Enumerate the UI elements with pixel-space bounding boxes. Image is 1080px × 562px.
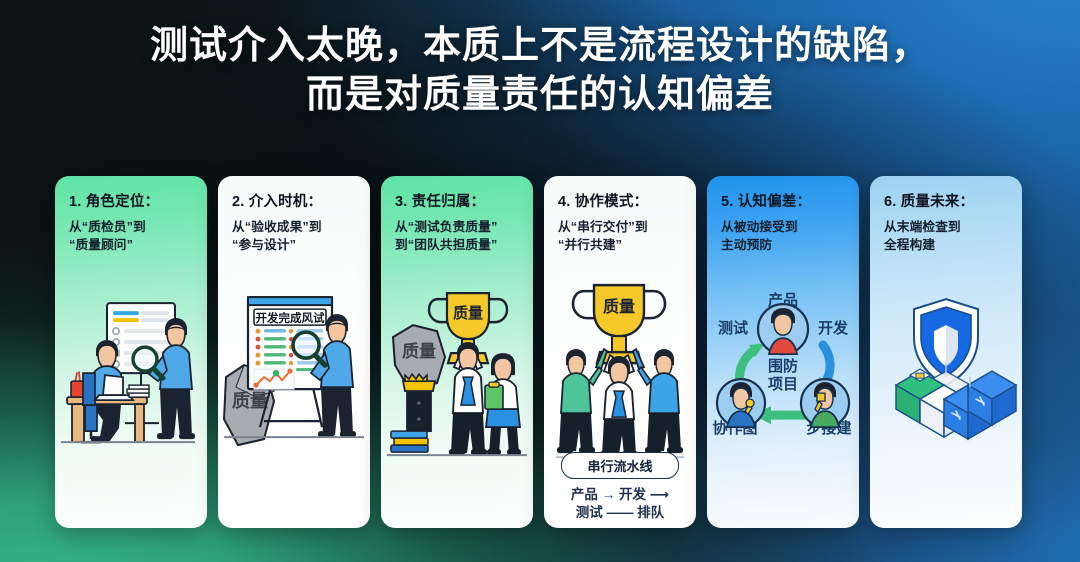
card-header: 3. 责任归属： 从“测试负责质量” 到“团队共担质量” (381, 176, 533, 254)
page-title: 测试介入太晚，本质上不是流程设计的缺陷， 而是对质量责任的认知偏差 (0, 22, 1080, 121)
title-line-2: 而是对质量责任的认知偏差 (0, 71, 1080, 120)
card-header: 4. 协作模式： 从“串行交付”到 “并行共建” (544, 176, 696, 254)
arrow-right-icon-2: ⟶ (650, 487, 669, 502)
card-header: 1. 角色定位： 从“质检员”到 “质量顾问” (55, 176, 207, 254)
card-header: 6. 质量未来： 从末端检查到 全程构建 (870, 176, 1022, 254)
clipboard-icon (485, 382, 503, 409)
card-title: 6. 质量未来： (884, 194, 1010, 212)
illustration-trophy-rock: 质量 (381, 254, 533, 528)
illustration-team-trophy-pipeline: 质量 (544, 254, 696, 528)
cycle-center-label-2: 项目 (768, 376, 798, 393)
pipeline-badge-label: 串行流水线 (587, 456, 652, 475)
rock-label: 质量 (402, 341, 436, 361)
card-subtitle-line-2: 全程构建 (884, 236, 1010, 254)
cycle-label-dev: 开发 (818, 319, 849, 337)
card-role-positioning[interactable]: 1. 角色定位： 从“质检员”到 “质量顾问” (55, 176, 207, 528)
card-title: 5. 认知偏差： (721, 194, 847, 212)
trophy-icon: 质量 (573, 285, 665, 363)
rock-on-pedestal-icon: 质量 (391, 325, 445, 452)
illustration-flipchart-review: 质量 开发完成风试 (218, 254, 370, 528)
pipeline-node-test: 测试 (576, 505, 603, 520)
pipeline-node-dev: 开发 (619, 487, 646, 502)
pipeline-badge: 串行流水线 (561, 452, 679, 479)
card-intervention-timing[interactable]: 2. 介入时机： 从“验收成果”到 “参与设计” 质量 开发完成风试 (218, 176, 370, 528)
card-subtitle-line-1: 从“串行交付”到 (558, 218, 684, 236)
card-header: 2. 介入时机： 从“验收成果”到 “参与设计” (218, 176, 370, 254)
card-subtitle-line-1: 从末端检查到 (884, 218, 1010, 236)
books-stack-icon (391, 431, 428, 452)
card-subtitle: 从“质检员”到 “质量顾问” (69, 218, 195, 254)
card-title: 4. 协作模式： (558, 194, 684, 212)
card-responsibility-ownership[interactable]: 3. 责任归属： 从“测试负责质量” 到“团队共担质量” 质量 (381, 176, 533, 528)
card-row: 1. 角色定位： 从“质检员”到 “质量顾问” (55, 176, 1025, 528)
card-subtitle: 从“串行交付”到 “并行共建” (558, 218, 684, 254)
line-connector-icon: —— (607, 505, 638, 520)
trophy-label: 质量 (453, 304, 483, 322)
card-subtitle-line-1: 从“验收成果”到 (232, 218, 358, 236)
pipeline-node-queue: 排队 (637, 505, 664, 520)
card-subtitle-line-1: 从“质检员”到 (69, 218, 195, 236)
card-subtitle-line-2: “参与设计” (232, 236, 358, 254)
card-subtitle-line-2: 到“团队共担质量” (395, 236, 521, 254)
card-quality-future[interactable]: 6. 质量未来： 从末端检查到 全程构建 (870, 176, 1022, 528)
illustration-cycle-diagram: 产品 测试 开发 围防 项目 协作图 步接建 (707, 254, 859, 528)
arrow-right-icon: → (602, 487, 619, 502)
pipeline-node-product: 产品 (571, 487, 598, 502)
flipchart-title: 开发完成风试 (256, 311, 325, 325)
card-header: 5. 认知偏差： 从被动接受到 主动预防 (707, 176, 859, 254)
person-right-icon (633, 349, 683, 453)
card-subtitle-line-1: 从被动接受到 (721, 218, 847, 236)
illustration-shield-blocks (870, 254, 1022, 528)
avatar-product (758, 304, 808, 354)
rock-label: 质量 (232, 390, 268, 411)
person-center-icon (600, 355, 638, 457)
cycle-center-label-1: 围防 (768, 357, 798, 375)
woman-icon (485, 353, 521, 455)
trophy-label: 质量 (603, 297, 635, 316)
card-subtitle: 从“测试负责质量” 到“团队共担质量” (395, 218, 521, 254)
card-title: 2. 介入时机： (232, 194, 358, 212)
card-title: 3. 责任归属： (395, 194, 521, 212)
card-subtitle-line-2: “质量顾问” (69, 236, 195, 254)
card-subtitle-line-1: 从“测试负责质量” (395, 218, 521, 236)
avatar-collab (717, 379, 765, 427)
card-cognitive-bias[interactable]: 5. 认知偏差： 从被动接受到 主动预防 产品 测试 开发 围防 项目 协作图 … (707, 176, 859, 528)
person-left-icon (557, 349, 607, 453)
avatar-build (801, 379, 849, 427)
illustration-desk-review (55, 254, 207, 528)
books-icon (127, 385, 149, 397)
card-subtitle-line-2: 主动预防 (721, 236, 847, 254)
cycle-label-test: 测试 (718, 319, 748, 337)
card-subtitle: 从被动接受到 主动预防 (721, 218, 847, 254)
card-title: 1. 角色定位： (69, 194, 195, 212)
card-subtitle-line-2: “并行共建” (558, 236, 684, 254)
card-collaboration-model[interactable]: 4. 协作模式： 从“串行交付”到 “并行共建” 质量 (544, 176, 696, 528)
pipeline-row-1: 产品 → 开发 ⟶ (544, 486, 696, 504)
line-chart-icon (253, 368, 294, 389)
card-subtitle: 从“验收成果”到 “参与设计” (232, 218, 358, 254)
title-line-1: 测试介入太晚，本质上不是流程设计的缺陷， (0, 22, 1080, 71)
card-subtitle: 从末端检查到 全程构建 (884, 218, 1010, 254)
pipeline-row-2: 测试 —— 排队 (544, 504, 696, 522)
